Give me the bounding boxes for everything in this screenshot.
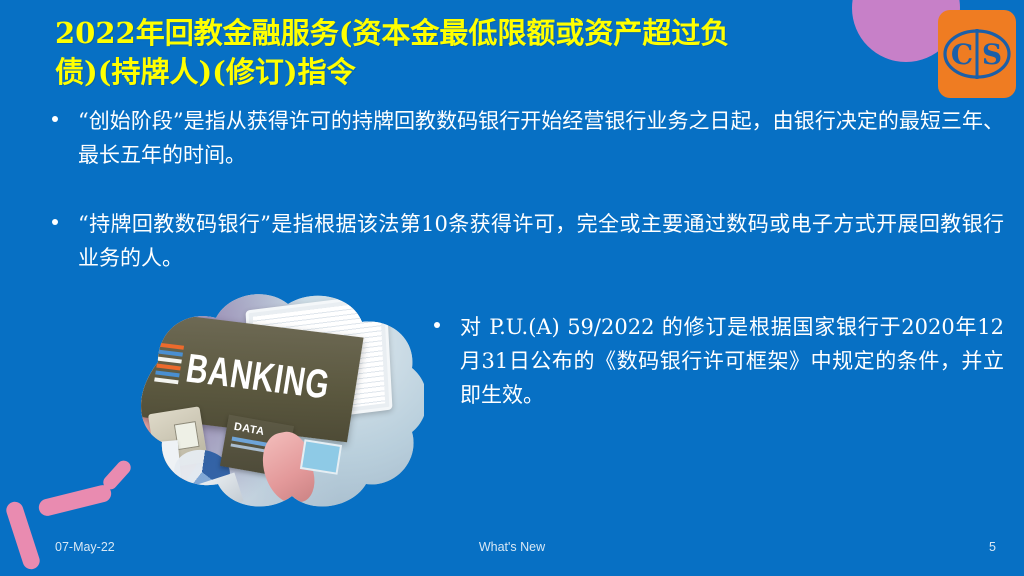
slide-title-line-1: 2022年回教金融服务(资本金最低限额或资产超过负 [55,14,855,53]
bullet-marker-icon [52,219,58,225]
bullet-text-2: “持牌回教数码银行”是指根据该法第10条获得许可，完全或主要通过数码或电子方式开… [78,207,1004,275]
svg-text:C: C [951,38,973,71]
footer-page-number: 5 [0,540,1024,554]
cs-monogram-icon: C S [942,23,1012,85]
photo-banner-barchart-icon [153,343,184,391]
slide-title: 2022年回教金融服务(资本金最低限额或资产超过负 债)(持牌人)(修订)指令 [55,14,855,91]
bullet-item-2: “持牌回教数码银行”是指根据该法第10条获得许可，完全或主要通过数码或电子方式开… [52,207,1004,275]
bullet-item-1: “创始阶段”是指从获得许可的持牌回教数码银行开始经营银行业务之日起，由银行决定的… [52,104,1004,172]
bullet-text-1: “创始阶段”是指从获得许可的持牌回教数码银行开始经营银行业务之日起，由银行决定的… [78,104,1004,172]
banking-cloud-image: BANKING DATA [52,292,424,516]
photo-banner-word: BANKING [183,349,332,407]
slide-title-line-2: 债)(持牌人)(修订)指令 [55,53,855,92]
svg-text:S: S [982,38,1002,71]
photo-teal-screen [300,439,342,475]
cloud-shape-mask: BANKING DATA [52,292,424,516]
slide-canvas: C S 2022年回教金融服务(资本金最低限额或资产超过负 债)(持牌人)(修订… [0,0,1024,576]
bullet-marker-icon [434,322,440,328]
decorative-stroke-lower [4,500,42,572]
company-logo: C S [938,10,1016,98]
bullet-text-3: 对 P.U.(A) 59/2022 的修订是根据国家银行于2020年12月31日… [460,310,1004,412]
bullet-marker-icon [52,116,58,122]
bullet-item-3: 对 P.U.(A) 59/2022 的修订是根据国家银行于2020年12月31日… [434,310,1004,412]
